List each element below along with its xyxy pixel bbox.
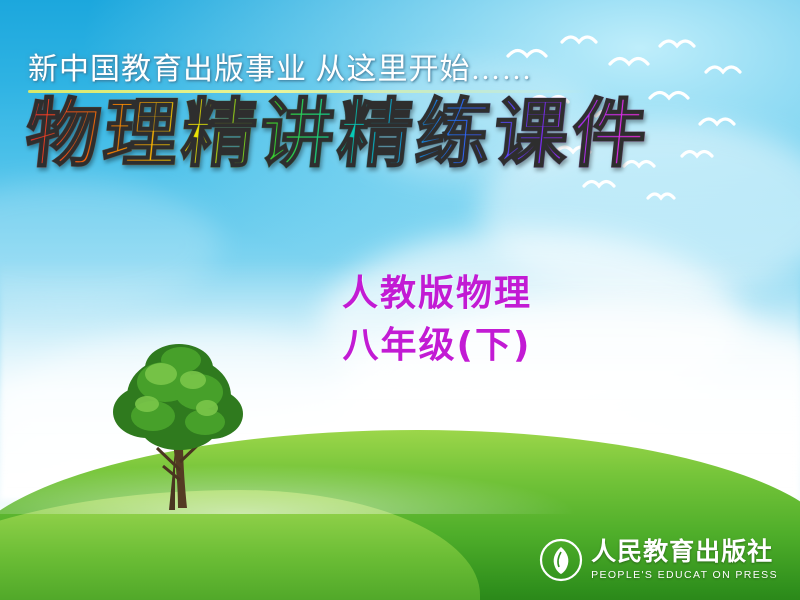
- tree-icon: [95, 330, 265, 510]
- subtitle-line-1: 人教版物理: [342, 268, 532, 320]
- presentation-slide: 新中国教育出版事业 从这里开始…… 物理精讲精练课件 人教版物理 八年级(下) …: [0, 0, 800, 600]
- publisher-mark-icon: [539, 538, 583, 582]
- slide-tagline: 新中国教育出版事业 从这里开始……: [28, 44, 533, 88]
- slide-subtitle: 人教版物理 八年级(下): [342, 268, 532, 372]
- publisher-name-cn: 人民教育出版社: [591, 539, 778, 564]
- publisher-logo: 人民教育出版社 PEOPLE'S EDUCAT ON PRESS: [539, 538, 778, 582]
- page-title: 物理精讲精练课件: [22, 96, 654, 174]
- publisher-name-en: PEOPLE'S EDUCAT ON PRESS: [591, 570, 778, 581]
- subtitle-line-2: 八年级(下): [342, 320, 532, 372]
